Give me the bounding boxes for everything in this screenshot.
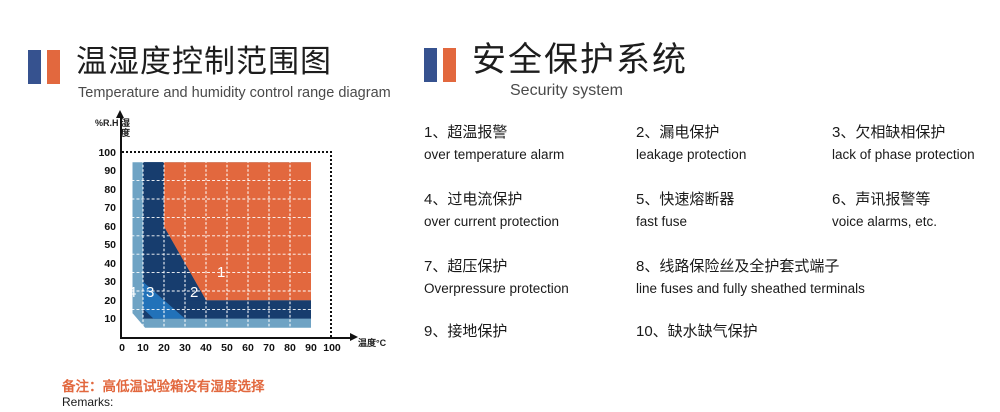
flag-accent-left [28, 50, 60, 84]
chart-zones-svg [122, 153, 311, 337]
zone-label-2: 2 [190, 284, 198, 301]
x-tick: 90 [305, 342, 317, 354]
security-row: 4、过电流保护 over current protection 5、快速熔断器 … [424, 189, 1000, 232]
temperature-humidity-chart: %R.H 湿度 温度°C 100 90 80 70 60 50 40 30 20… [60, 112, 410, 362]
page-root: 温湿度控制范围图 Temperature and humidity contro… [0, 0, 1000, 412]
security-item-cn: 9、接地保护 [424, 321, 636, 343]
y-tick: 20 [76, 295, 116, 307]
x-tick: 20 [158, 342, 170, 354]
x-tick: 70 [263, 342, 275, 354]
y-tick: 80 [76, 184, 116, 196]
x-tick: 60 [242, 342, 254, 354]
right-section-header: 安全保护系统 Security system [424, 42, 688, 101]
security-item-10: 10、缺水缺气保护 [636, 321, 1000, 343]
remarks-en: Remarks: [62, 395, 422, 410]
x-tick: 80 [284, 342, 296, 354]
security-item-7: 7、超压保护 Overpressure protection [424, 256, 636, 299]
security-item-6: 6、声讯报警等 voice alarms, etc. [832, 189, 1000, 232]
security-item-cn: 5、快速熔断器 [636, 189, 832, 211]
security-item-8: 8、线路保险丝及全护套式端子 line fuses and fully shea… [636, 256, 1000, 299]
left-section-header: 温湿度控制范围图 Temperature and humidity contro… [28, 44, 391, 103]
x-tick: 50 [221, 342, 233, 354]
x-axis-label: 温度°C [358, 336, 386, 349]
y-tick: 70 [76, 202, 116, 214]
y-tick: 10 [76, 313, 116, 325]
security-item-cn: 3、欠相缺相保护 [832, 122, 1000, 144]
security-item-4: 4、过电流保护 over current protection [424, 189, 636, 232]
security-item-en: lack of phase protection [832, 145, 1000, 165]
security-row: 9、接地保护 10、缺水缺气保护 [424, 321, 1000, 343]
flag-bar-orange-icon [443, 48, 456, 82]
security-item-1: 1、超温报警 over temperature alarm [424, 122, 636, 165]
chart-plot-area [122, 153, 311, 337]
flag-bar-blue-icon [28, 50, 41, 84]
security-item-cn: 1、超温报警 [424, 122, 636, 144]
x-tick: 100 [323, 342, 341, 354]
security-item-cn: 10、缺水缺气保护 [636, 321, 1000, 343]
y-tick: 50 [76, 239, 116, 251]
zone-label-4: 4 [128, 284, 136, 301]
security-item-en: over temperature alarm [424, 145, 636, 165]
security-item-en: fast fuse [636, 212, 832, 232]
x-tick: 10 [137, 342, 149, 354]
left-title-en: Temperature and humidity control range d… [78, 83, 391, 103]
security-item-en: voice alarms, etc. [832, 212, 1000, 232]
right-section-titles: 安全保护系统 Security system [472, 42, 688, 101]
security-item-en: Overpressure protection [424, 279, 636, 299]
y-tick: 30 [76, 276, 116, 288]
security-item-9: 9、接地保护 [424, 321, 636, 343]
right-title-en: Security system [510, 81, 688, 101]
security-item-5: 5、快速熔断器 fast fuse [636, 189, 832, 232]
security-items-list: 1、超温报警 over temperature alarm 2、漏电保护 lea… [424, 122, 1000, 359]
security-item-en: leakage protection [636, 145, 832, 165]
flag-bar-blue-icon [424, 48, 437, 82]
security-item-cn: 2、漏电保护 [636, 122, 832, 144]
remarks-cn: 备注：高低温试验箱没有湿度选择 [62, 378, 422, 395]
y-tick: 60 [76, 221, 116, 233]
y-tick: 100 [76, 147, 116, 159]
zone-label-1: 1 [217, 264, 225, 281]
security-item-en: line fuses and fully sheathed terminals [636, 279, 1000, 299]
left-section-titles: 温湿度控制范围图 Temperature and humidity contro… [76, 44, 391, 103]
y-tick: 90 [76, 165, 116, 177]
x-tick: 0 [119, 342, 125, 354]
flag-bar-orange-icon [47, 50, 60, 84]
y-tick: 40 [76, 258, 116, 270]
zone-label-3: 3 [146, 284, 154, 301]
x-tick: 40 [200, 342, 212, 354]
security-item-2: 2、漏电保护 leakage protection [636, 122, 832, 165]
left-title-cn: 温湿度控制范围图 [76, 44, 391, 80]
security-item-3: 3、欠相缺相保护 lack of phase protection [832, 122, 1000, 165]
flag-accent-right [424, 48, 456, 82]
security-item-cn: 6、声讯报警等 [832, 189, 1000, 211]
y-tick-labels: 100 90 80 70 60 50 40 30 20 10 [60, 112, 120, 342]
right-title-cn: 安全保护系统 [472, 42, 688, 78]
security-item-en: over current protection [424, 212, 636, 232]
security-item-cn: 8、线路保险丝及全护套式端子 [636, 256, 1000, 278]
x-axis-line [120, 337, 352, 339]
security-row: 1、超温报警 over temperature alarm 2、漏电保护 lea… [424, 122, 1000, 165]
security-row: 7、超压保护 Overpressure protection 8、线路保险丝及全… [424, 256, 1000, 299]
remarks-block: 备注：高低温试验箱没有湿度选择 Remarks: [62, 378, 422, 410]
security-item-cn: 4、过电流保护 [424, 189, 636, 211]
security-item-cn: 7、超压保护 [424, 256, 636, 278]
x-tick: 30 [179, 342, 191, 354]
